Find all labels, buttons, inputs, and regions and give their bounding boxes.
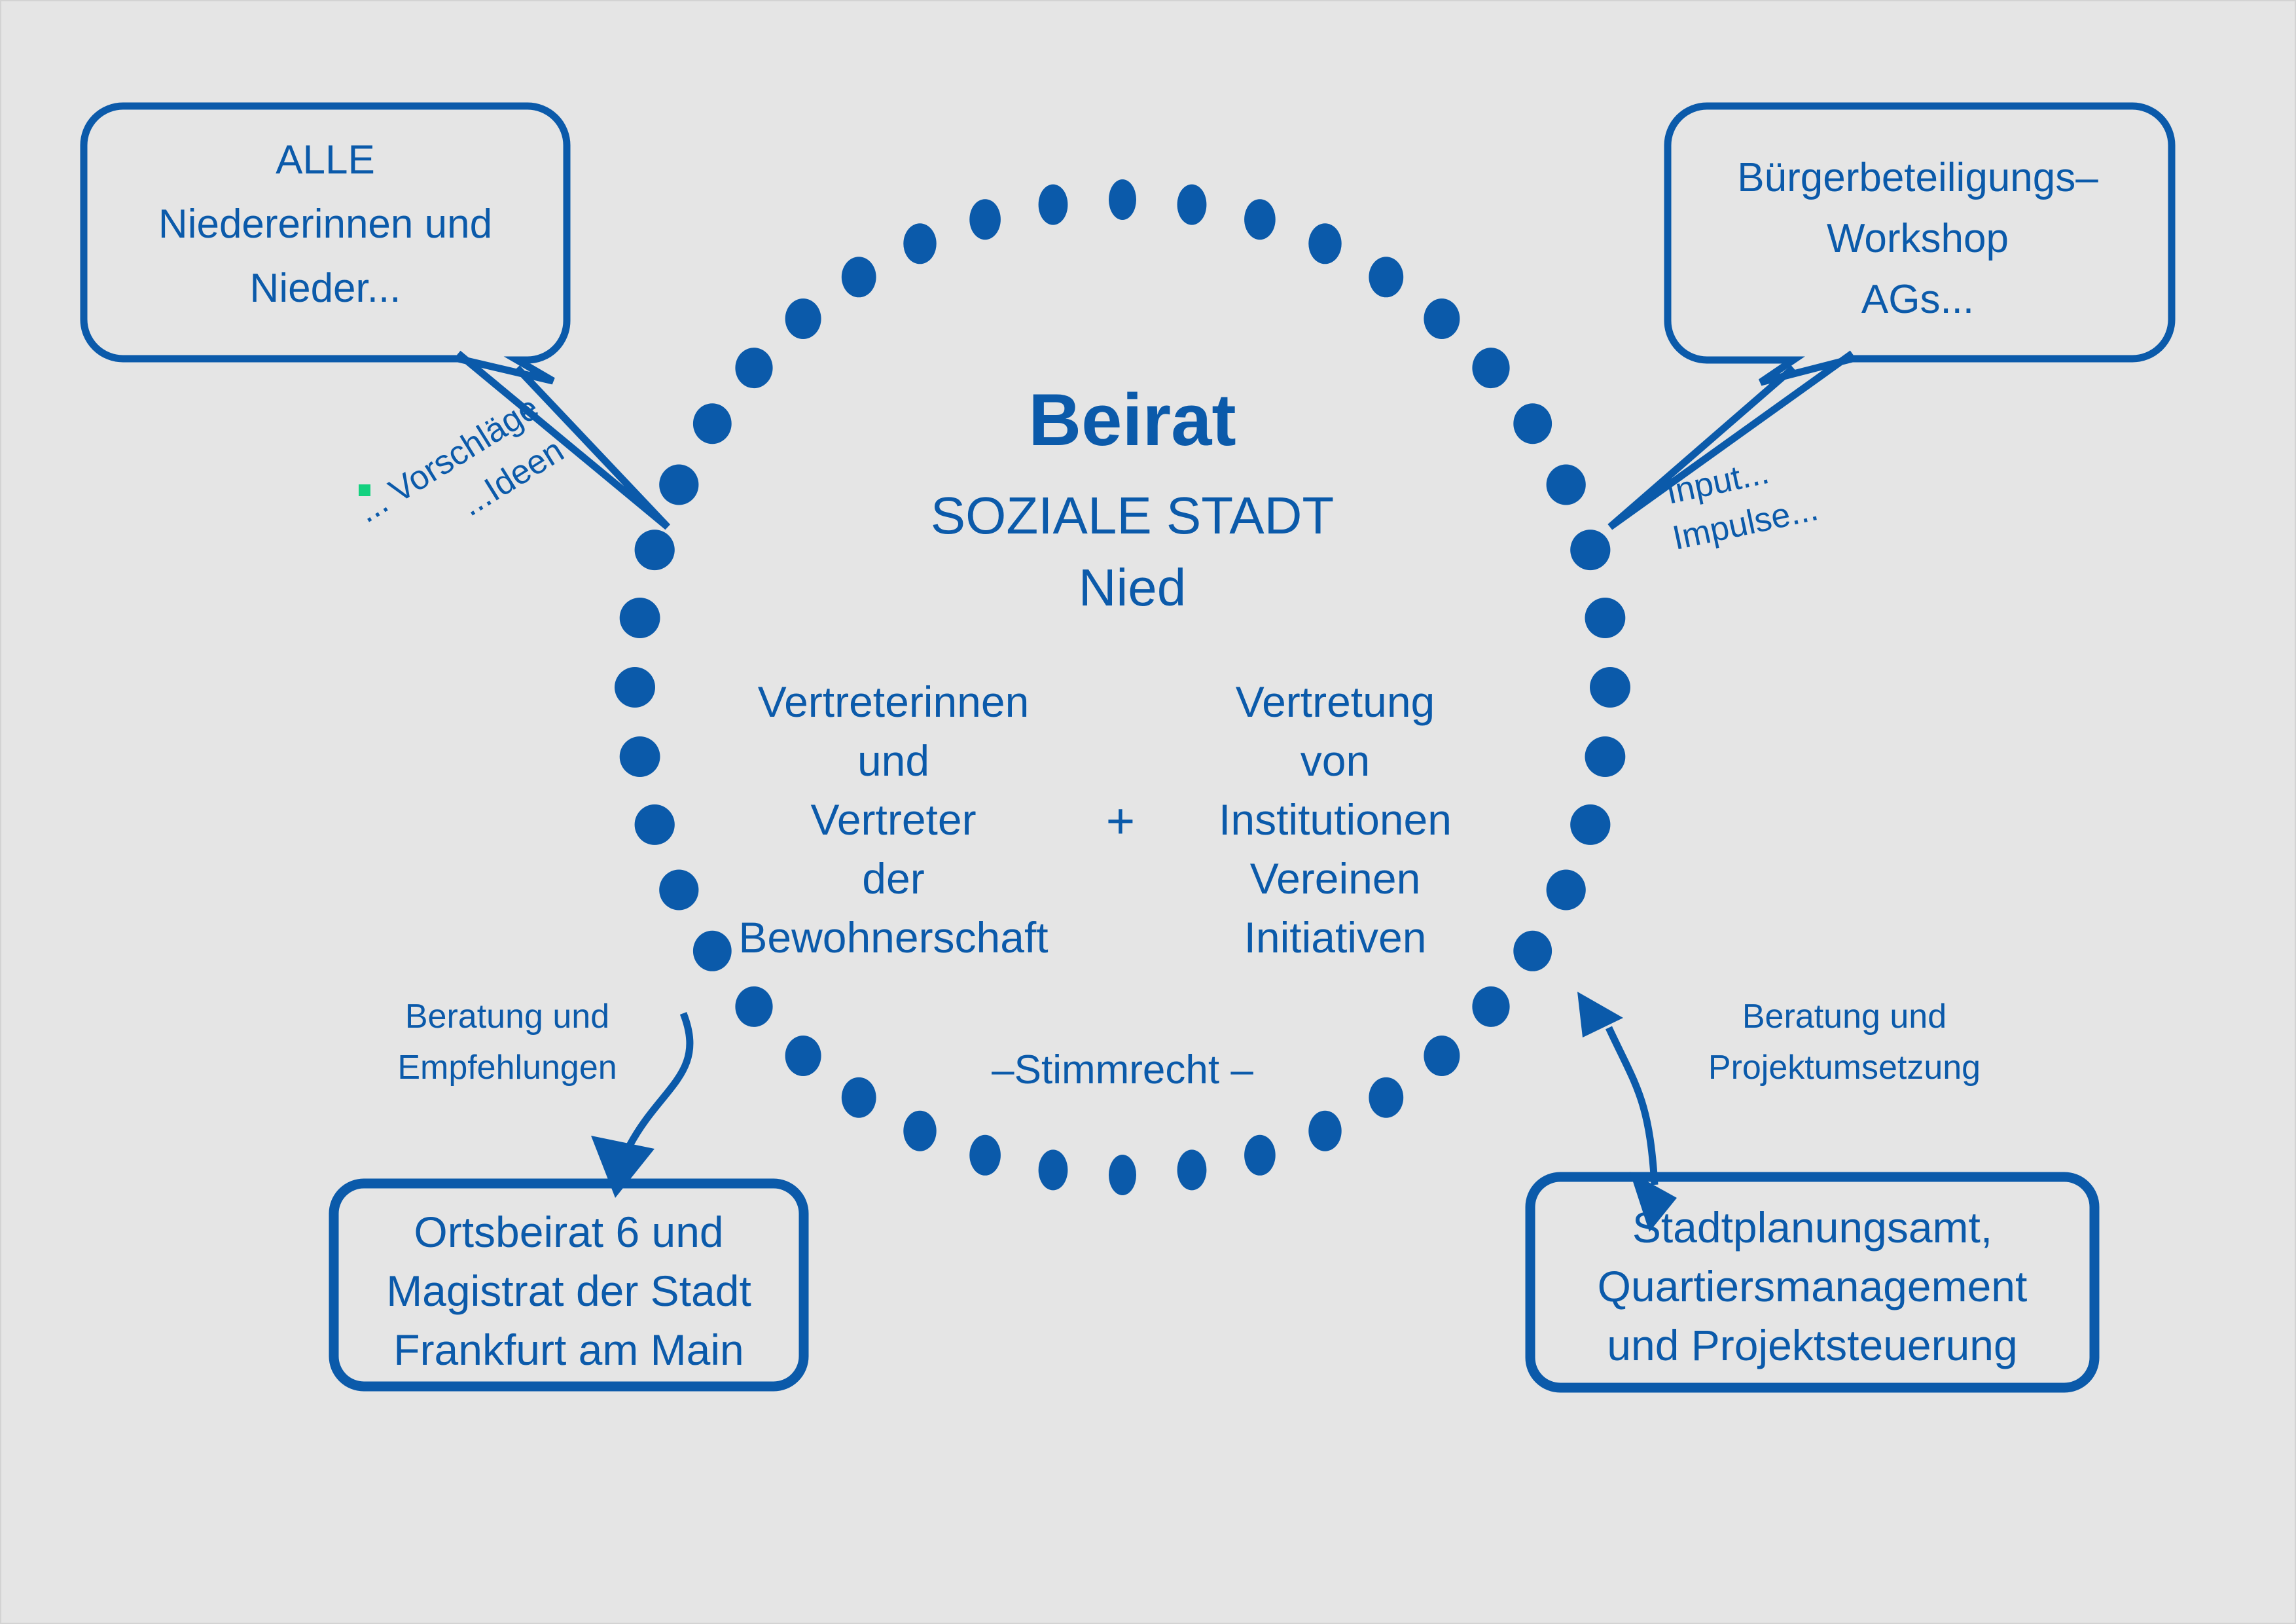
ring-dot xyxy=(735,348,772,388)
ring-dot xyxy=(1308,1111,1341,1151)
arrow-bottom-left-head xyxy=(591,1136,655,1198)
label-beratung-projektumsetzung-line1: Beratung und xyxy=(1742,998,1946,1036)
ring-dot xyxy=(842,1077,876,1118)
ring-dot xyxy=(903,223,936,264)
center-subheading-line1: SOZIALE STADT xyxy=(931,486,1334,545)
ring-dot xyxy=(1109,1155,1136,1195)
stimmrecht-label: –Stimmrecht – xyxy=(992,1047,1253,1092)
ring-dot xyxy=(659,465,698,505)
ring-dot xyxy=(1177,185,1207,225)
ring-dot xyxy=(1424,298,1460,339)
bubble-top-right-line-3: AGs... xyxy=(1861,277,1974,322)
ring-dot xyxy=(615,667,655,708)
ring-dot xyxy=(1244,1135,1276,1176)
arrow-bottom-right xyxy=(1577,992,1677,1232)
ring-dot xyxy=(635,530,675,570)
arrow-bottom-left xyxy=(591,1013,690,1198)
plus-sign: + xyxy=(1106,793,1135,849)
arrow-bottom-right-head-up xyxy=(1577,992,1623,1038)
ring-dot xyxy=(785,1036,821,1076)
diagram-canvas: Beirat SOZIALE STADT Nied Vertreterinnen… xyxy=(0,0,2296,1624)
ring-dot xyxy=(1308,223,1341,264)
box-bottom-right-line-1: Stadtplanungsamt, xyxy=(1632,1203,1992,1252)
ring-dot xyxy=(1109,179,1136,220)
ring-dot xyxy=(1570,530,1610,570)
ring-dot xyxy=(1039,185,1068,225)
ring-dot xyxy=(1424,1036,1460,1076)
ring-dot xyxy=(659,870,698,911)
right-column-line-3: Institutionen xyxy=(1219,795,1452,844)
ring-dot xyxy=(1570,804,1610,845)
ring-dot xyxy=(1369,257,1403,297)
ring-dot xyxy=(635,804,675,845)
ring-dot xyxy=(1472,348,1509,388)
box-bottom-left[interactable]: Ortsbeirat 6 und Magistrat der Stadt Fra… xyxy=(334,1183,804,1386)
beirat-diagram: Beirat SOZIALE STADT Nied Vertreterinnen… xyxy=(0,0,2296,1624)
ring-dot xyxy=(1547,465,1586,505)
bubble-top-right-line-1: Bürgerbeteiligungs– xyxy=(1737,155,2098,200)
ring-dot xyxy=(969,199,1001,240)
right-column-line-1: Vertretung xyxy=(1236,677,1435,726)
arrow-bottom-right-path xyxy=(1609,1028,1655,1185)
left-column-line-5: Bewohnerschaft xyxy=(738,913,1048,962)
ring-dot xyxy=(785,298,821,339)
box-bottom-left-line-2: Magistrat der Stadt xyxy=(386,1267,751,1315)
ring-dot xyxy=(1472,986,1509,1027)
box-bottom-right-line-2: Quartiersmanagement xyxy=(1598,1262,2028,1310)
ring-dot xyxy=(842,257,876,297)
ring-dot xyxy=(1585,736,1626,777)
right-column-line-2: von xyxy=(1300,736,1370,785)
ring-dot xyxy=(693,931,732,971)
ring-dot xyxy=(1513,403,1552,444)
center-subheading-line2: Nied xyxy=(1079,558,1187,617)
bubble-top-left[interactable]: ALLE Niedererinnen und Nieder... xyxy=(84,106,668,527)
ring-dot xyxy=(693,403,732,444)
ring-dot xyxy=(1513,931,1552,971)
left-column-line-4: der xyxy=(862,854,924,903)
label-beratung-projektumsetzung-line2: Projektumsetzung xyxy=(1708,1049,1981,1087)
box-bottom-left-line-3: Frankfurt am Main xyxy=(393,1326,744,1374)
bubble-top-left-line-1: ALLE xyxy=(276,137,375,183)
left-column-line-2: und xyxy=(857,736,929,785)
bubble-top-right[interactable]: Bürgerbeteiligungs– Workshop AGs... xyxy=(1610,106,2172,527)
left-column-line-1: Vertreterinnen xyxy=(758,677,1030,726)
box-bottom-right-line-3: und Projektsteuerung xyxy=(1607,1321,2017,1369)
ring-dot xyxy=(1547,870,1586,911)
right-column-line-5: Initiativen xyxy=(1244,913,1427,962)
ring-dot xyxy=(620,736,660,777)
label-beratung-empfehlungen-line1: Beratung und xyxy=(405,998,609,1036)
ring-dot xyxy=(1585,598,1626,638)
ring-dot xyxy=(1590,667,1630,708)
bubble-top-left-line-2: Niedererinnen und xyxy=(158,202,492,247)
center-heading: Beirat xyxy=(1028,379,1236,461)
bubble-top-right-line-2: Workshop xyxy=(1827,216,2009,261)
left-column-line-3: Vertreter xyxy=(810,795,976,844)
arrow-bottom-left-path xyxy=(630,1013,690,1146)
ring-dot xyxy=(1244,199,1276,240)
ring-dot xyxy=(735,986,772,1027)
ring-dot xyxy=(620,598,660,638)
ring-dot xyxy=(1039,1149,1068,1190)
bubble-top-left-line-3: Nieder... xyxy=(250,266,401,311)
ring-dot xyxy=(1177,1149,1207,1190)
right-column-line-4: Vereinen xyxy=(1250,854,1421,903)
box-bottom-right[interactable]: Stadtplanungsamt, Quartiersmanagement un… xyxy=(1530,1177,2094,1388)
label-beratung-empfehlungen-line2: Empfehlungen xyxy=(397,1049,617,1087)
box-bottom-left-line-1: Ortsbeirat 6 und xyxy=(414,1208,723,1256)
ring-dot xyxy=(903,1111,936,1151)
ring-dot xyxy=(1369,1077,1403,1118)
ring-dot xyxy=(969,1135,1001,1176)
